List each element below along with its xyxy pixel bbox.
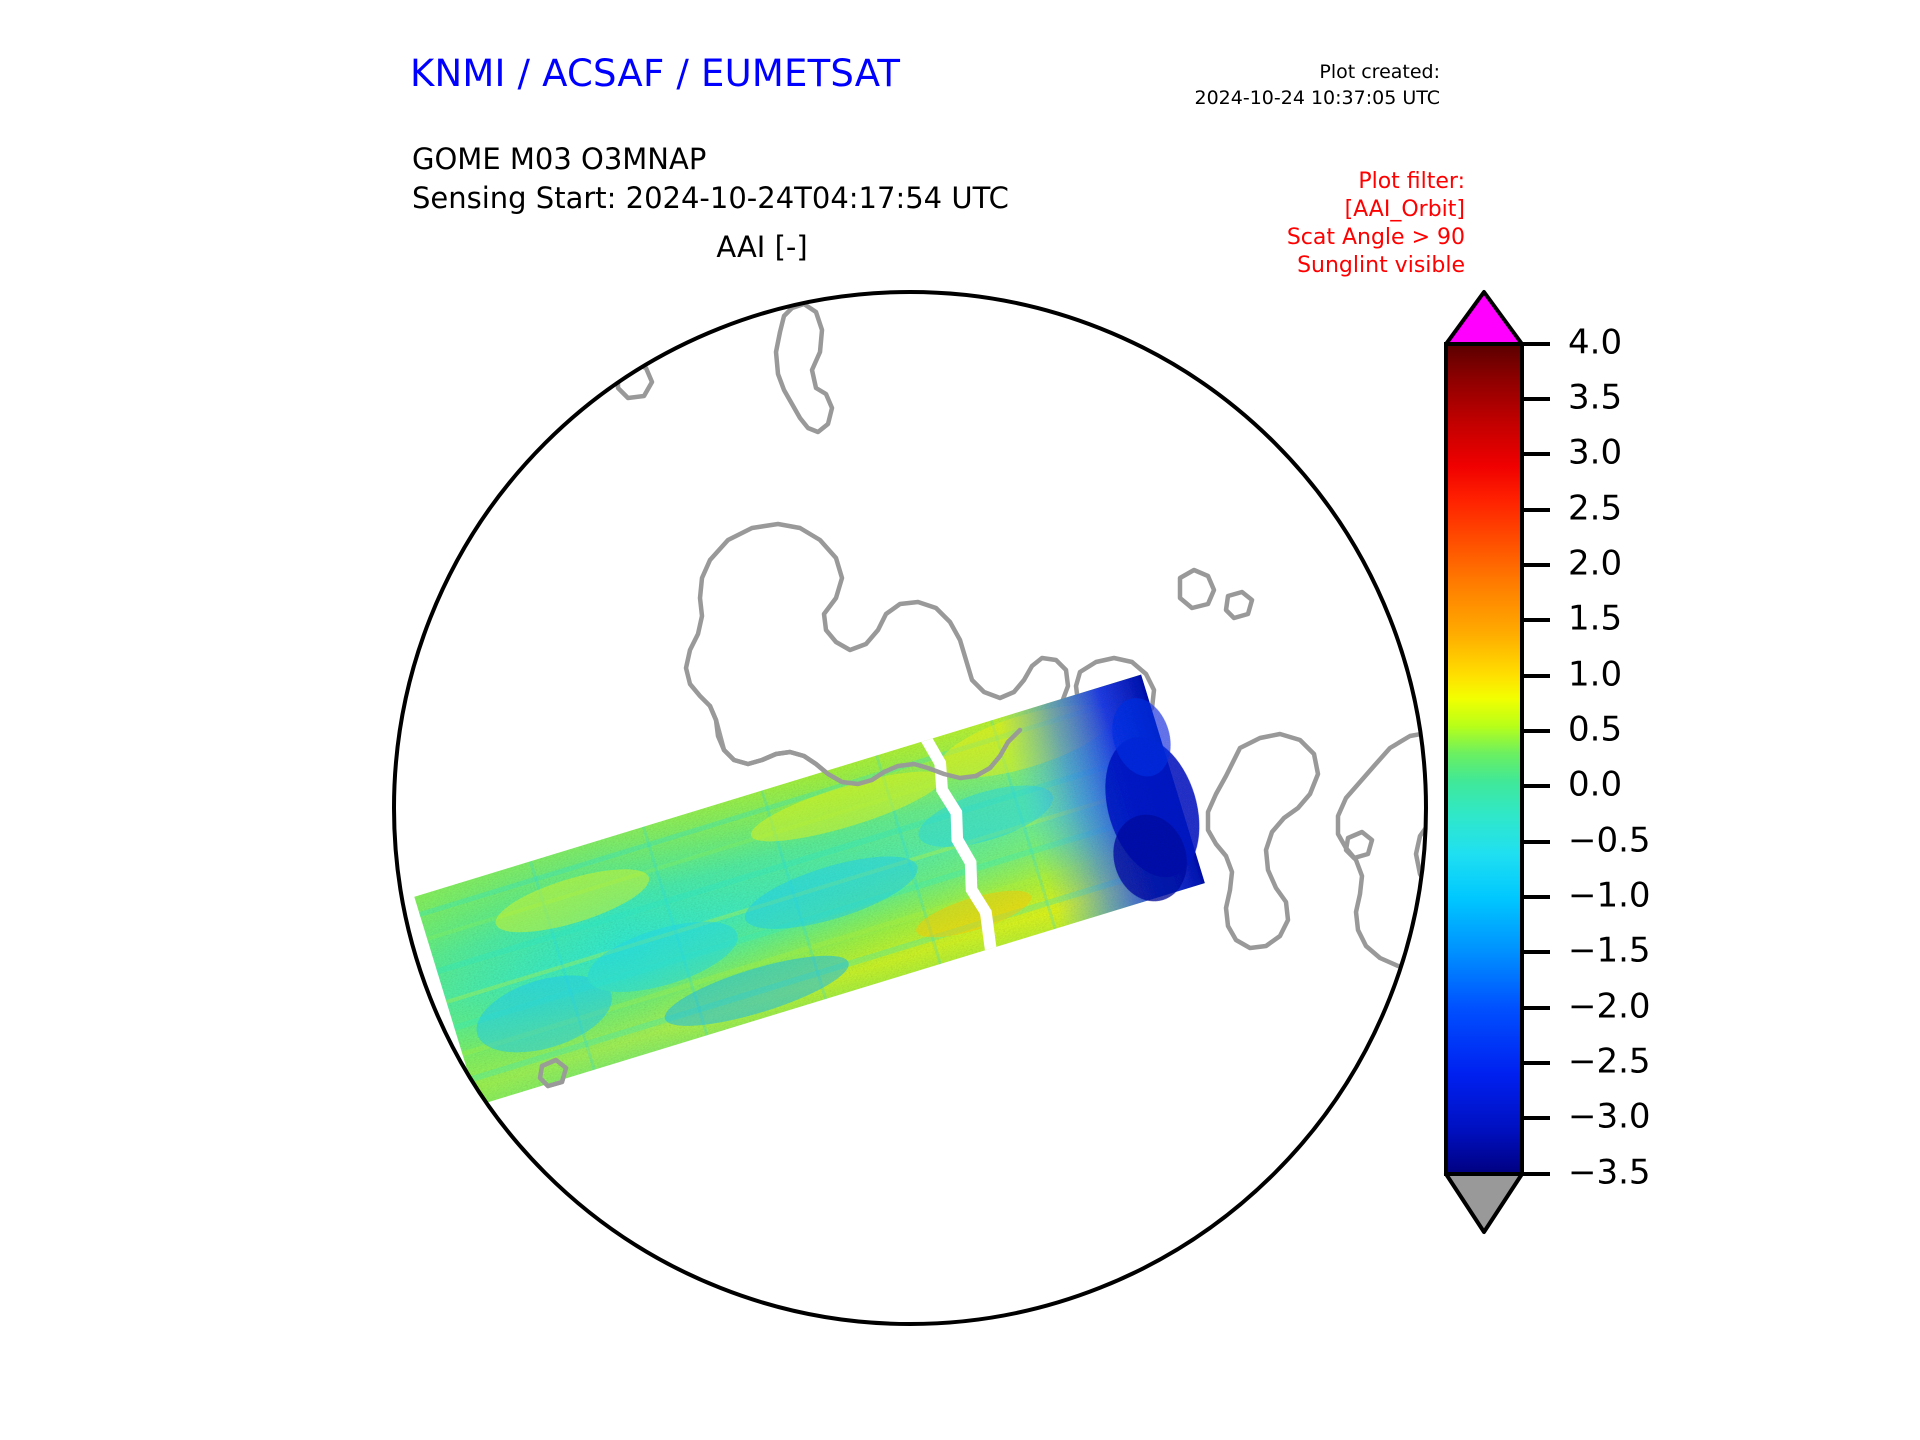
- sensing-start-line: Sensing Start: 2024-10-24T04:17:54 UTC: [412, 179, 1009, 218]
- colorbar-gradient: [1446, 344, 1522, 1174]
- colorbar-tick-label: −3.5: [1568, 1153, 1651, 1193]
- colorbar-tick-label: −1.0: [1568, 876, 1651, 916]
- colorbar-tick-label: 3.0: [1568, 433, 1622, 473]
- colorbar-tick-label: 0.0: [1568, 765, 1622, 805]
- colorbar-tick-label: 2.5: [1568, 489, 1622, 529]
- subtitle-block: GOME M03 O3MNAP Sensing Start: 2024-10-2…: [412, 140, 1009, 217]
- colorbar-tick-label: 1.0: [1568, 655, 1622, 695]
- polar-map: [380, 278, 1440, 1338]
- colorbar-tick-label: −2.0: [1568, 987, 1651, 1027]
- colorbar-tick-label: −2.5: [1568, 1042, 1651, 1082]
- plot-created-label: Plot created:: [1195, 60, 1441, 86]
- map-panel: [380, 278, 1440, 1338]
- plot-filter-line-0: Plot filter:: [1287, 168, 1465, 196]
- plot-created-block: Plot created: 2024-10-24 10:37:05 UTC: [1195, 60, 1441, 111]
- colorbar-tick-label: 2.0: [1568, 544, 1622, 584]
- plot-filter-block: Plot filter: [AAI_Orbit] Scat Angle > 90…: [1287, 168, 1465, 281]
- plot-page: KNMI / ACSAF / EUMETSAT Plot created: 20…: [0, 0, 1920, 1440]
- instrument-line: GOME M03 O3MNAP: [412, 140, 1009, 179]
- plot-created-value: 2024-10-24 10:37:05 UTC: [1195, 86, 1441, 112]
- colorbar-tick-labels: 4.0 3.5 3.0 2.5 2.0 1.5 1.0 0.5 0.0 −0.5…: [1568, 323, 1651, 1193]
- colorbar-tick-label: −0.5: [1568, 821, 1651, 861]
- colorbar-tick-label: 0.5: [1568, 710, 1622, 750]
- colorbar-panel: 4.0 3.5 3.0 2.5 2.0 1.5 1.0 0.5 0.0 −0.5…: [1432, 282, 1852, 1302]
- colorbar-tick-label: 3.5: [1568, 378, 1622, 418]
- colorbar-ticks: [1522, 344, 1550, 1174]
- colorbar-tick-label: −1.5: [1568, 931, 1651, 971]
- colorbar: 4.0 3.5 3.0 2.5 2.0 1.5 1.0 0.5 0.0 −0.5…: [1432, 282, 1852, 1302]
- colorbar-tick-label: 4.0: [1568, 323, 1622, 363]
- colorbar-over-arrow: [1446, 292, 1522, 344]
- plot-filter-line-3: Sunglint visible: [1287, 252, 1465, 280]
- colorbar-under-arrow: [1446, 1174, 1522, 1232]
- brand-title: KNMI / ACSAF / EUMETSAT: [410, 52, 900, 95]
- plot-filter-line-2: Scat Angle > 90: [1287, 224, 1465, 252]
- colorbar-tick-label: −3.0: [1568, 1097, 1651, 1137]
- colorbar-tick-label: 1.5: [1568, 599, 1622, 639]
- page-title: AAI [-]: [412, 230, 1112, 264]
- plot-filter-line-1: [AAI_Orbit]: [1287, 196, 1465, 224]
